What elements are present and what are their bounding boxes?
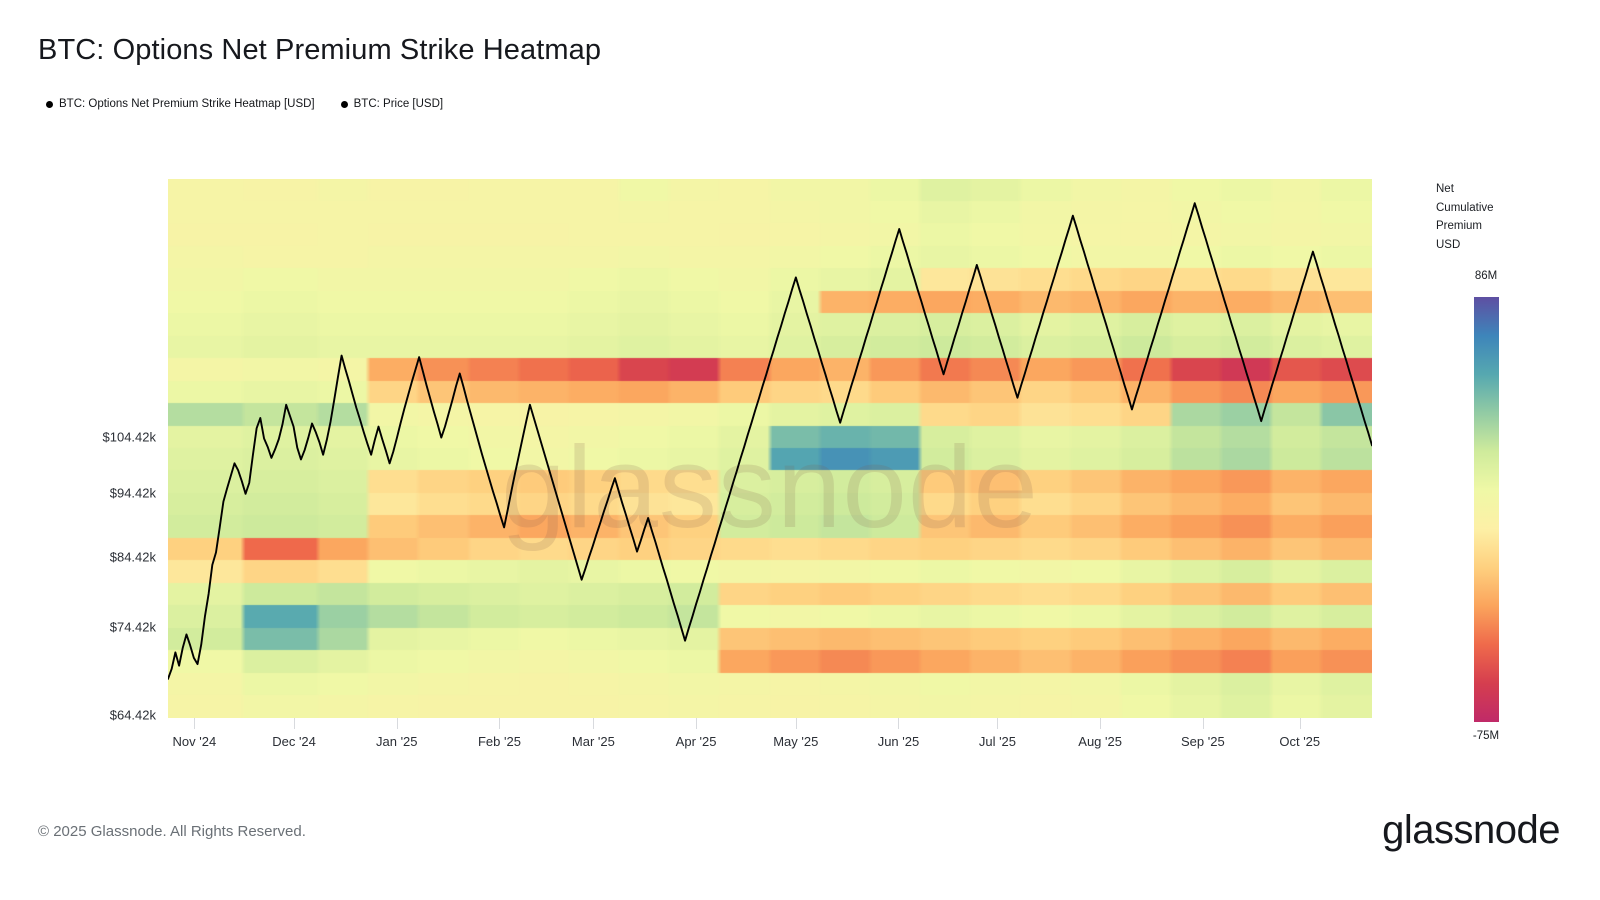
y-tick-label: $94.42k [110,486,156,501]
legend-label-heatmap: BTC: Options Net Premium Strike Heatmap … [59,98,315,110]
x-tick-mark [997,718,998,729]
legend-dot-price-icon [341,101,348,108]
x-tick-mark [499,718,500,729]
x-tick-mark [796,718,797,729]
colorbar-gradient [1474,297,1499,722]
page-title: BTC: Options Net Premium Strike Heatmap [38,34,601,67]
x-tick-label: Oct '25 [1279,734,1320,749]
y-tick-label: $64.42k [110,707,156,722]
colorbar: NetCumulativePremiumUSD 86M -75M [1436,180,1586,740]
chart-page: BTC: Options Net Premium Strike Heatmap … [0,0,1600,900]
colorbar-min-label: -75M [1454,730,1518,742]
x-tick-label: Dec '24 [272,734,316,749]
x-tick-label: Mar '25 [572,734,615,749]
x-tick-label: Nov '24 [173,734,217,749]
x-tick-mark [194,718,195,729]
y-tick-label: $74.42k [110,620,156,635]
y-axis: $104.42k$94.42k$84.42k$74.42k$64.42k [0,179,156,718]
x-tick-label: Jul '25 [979,734,1016,749]
x-tick-mark [397,718,398,729]
colorbar-title-line-3: USD [1436,236,1526,255]
x-tick-mark [294,718,295,729]
legend-item-heatmap[interactable]: BTC: Options Net Premium Strike Heatmap … [46,98,315,110]
x-tick-mark [696,718,697,729]
legend-dot-heatmap-icon [46,101,53,108]
plot-area[interactable]: glassnode [168,179,1372,718]
x-tick-label: Jan '25 [376,734,418,749]
x-axis: Nov '24Dec '24Jan '25Feb '25Mar '25Apr '… [168,718,1372,764]
x-tick-label: Feb '25 [478,734,521,749]
y-tick-label: $104.42k [103,429,157,444]
x-tick-label: Sep '25 [1181,734,1225,749]
x-tick-label: Jun '25 [878,734,920,749]
y-tick-label: $84.42k [110,550,156,565]
x-tick-label: Aug '25 [1078,734,1122,749]
colorbar-title-line-2: Premium [1436,217,1526,236]
x-tick-mark [1300,718,1301,729]
x-tick-label: Apr '25 [676,734,717,749]
colorbar-max-label: 86M [1454,270,1518,282]
footer-copyright: © 2025 Glassnode. All Rights Reserved. [38,823,306,840]
colorbar-title-line-1: Cumulative [1436,199,1526,218]
heatmap-grid[interactable] [168,179,1372,718]
x-tick-mark [1100,718,1101,729]
glassnode-logo: glassnode [1382,808,1560,853]
x-tick-mark [898,718,899,729]
chart-legend: BTC: Options Net Premium Strike Heatmap … [46,98,443,110]
x-tick-label: May '25 [773,734,818,749]
legend-label-price: BTC: Price [USD] [354,98,443,110]
x-tick-mark [1203,718,1204,729]
legend-item-price[interactable]: BTC: Price [USD] [341,98,443,110]
x-tick-mark [593,718,594,729]
colorbar-title-line-0: Net [1436,180,1526,199]
colorbar-title: NetCumulativePremiumUSD [1436,180,1526,254]
